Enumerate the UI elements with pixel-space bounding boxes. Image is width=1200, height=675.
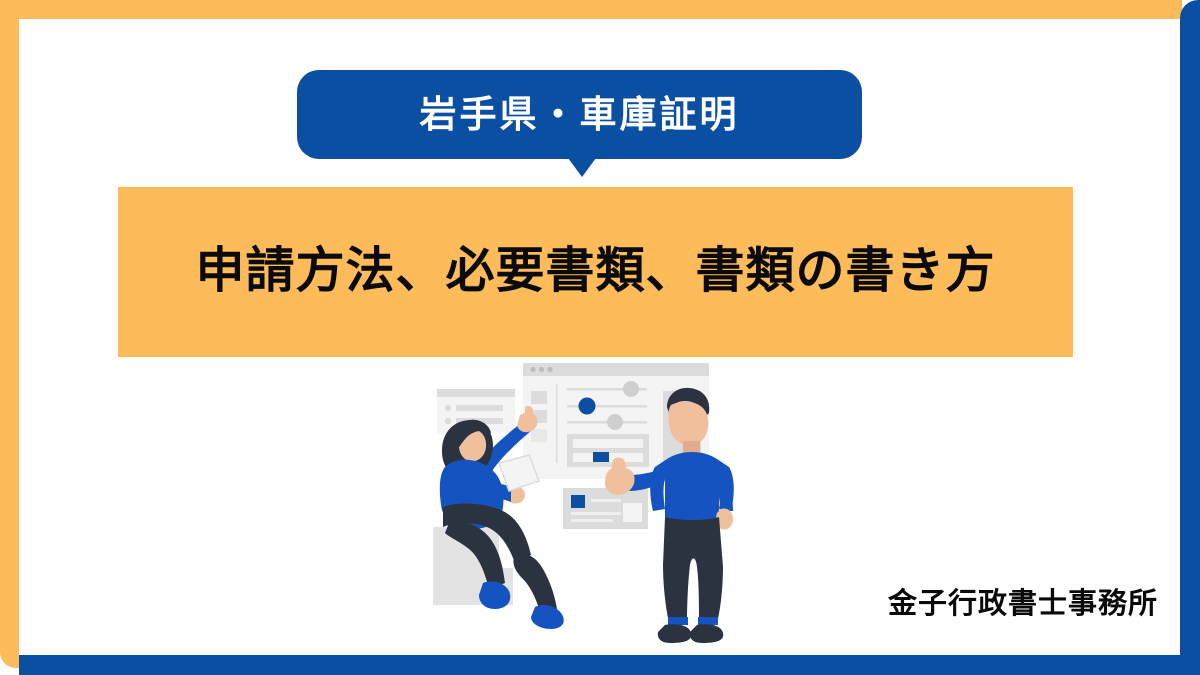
badge-tail-icon <box>568 158 596 177</box>
media-card-illustration <box>563 488 648 529</box>
hero-illustration <box>415 355 775 650</box>
category-badge-label: 岩手県・車庫証明 <box>420 96 740 133</box>
frame-bottom-border <box>19 655 1200 675</box>
slide-canvas: 岩手県・車庫証明 申請方法、必要書類、書類の書き方 <box>0 0 1200 675</box>
frame-top-border <box>0 0 1182 19</box>
frame-right-border <box>1180 0 1200 675</box>
category-badge: 岩手県・車庫証明 <box>297 70 862 159</box>
headline-band: 申請方法、必要書類、書類の書き方 <box>118 187 1073 357</box>
page-title: 申請方法、必要書類、書類の書き方 <box>195 245 995 299</box>
frame-left-border <box>0 0 19 668</box>
office-credit: 金子行政書士事務所 <box>888 580 1158 622</box>
